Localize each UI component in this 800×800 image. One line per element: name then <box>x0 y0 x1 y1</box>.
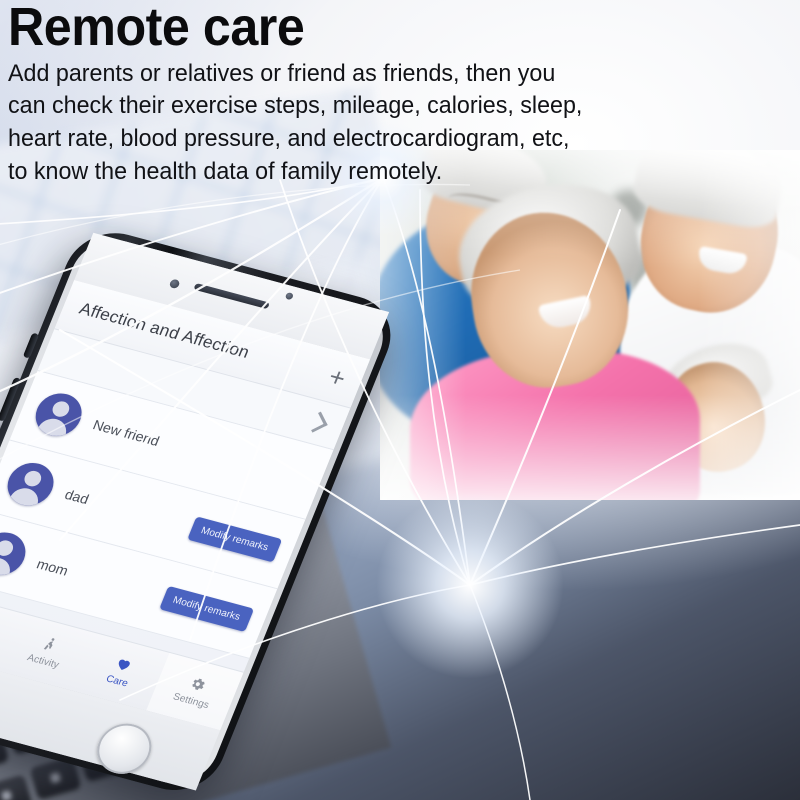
list-item-label: dad <box>63 486 182 531</box>
proximity-sensor-icon <box>285 292 294 300</box>
slide-canvas: Affection and Affection + New friend dad… <box>0 0 800 800</box>
modify-remarks-button[interactable]: Modify remarks <box>159 585 254 631</box>
add-friend-icon[interactable]: + <box>325 363 350 391</box>
running-icon <box>39 635 61 654</box>
body-line: Add parents or relatives or friend as fr… <box>8 58 759 91</box>
heart-icon <box>113 655 135 674</box>
tab-label: Settings <box>171 691 210 711</box>
body-line: to know the health data of family remote… <box>8 156 759 189</box>
avatar <box>1 458 60 510</box>
body-line: can check their exercise steps, mileage,… <box>8 90 759 123</box>
headline-block: Remote care Add parents or relatives or … <box>8 2 798 188</box>
avatar <box>0 528 32 580</box>
body-line: heart rate, blood pressure, and electroc… <box>8 123 759 156</box>
chevron-right-icon[interactable] <box>306 412 328 433</box>
avatar <box>29 388 88 440</box>
page-title: Remote care <box>8 2 743 54</box>
list-item-label: mom <box>35 556 154 601</box>
gear-icon <box>187 675 209 694</box>
speaker-grille <box>193 283 270 309</box>
light-glow-bottom <box>365 490 575 680</box>
tab-label: Activity <box>25 652 60 670</box>
tab-label: Care <box>104 674 129 690</box>
camera-icon <box>169 279 181 290</box>
modify-remarks-button[interactable]: Modify remarks <box>187 516 282 562</box>
body-copy: Add parents or relatives or friend as fr… <box>8 58 759 188</box>
